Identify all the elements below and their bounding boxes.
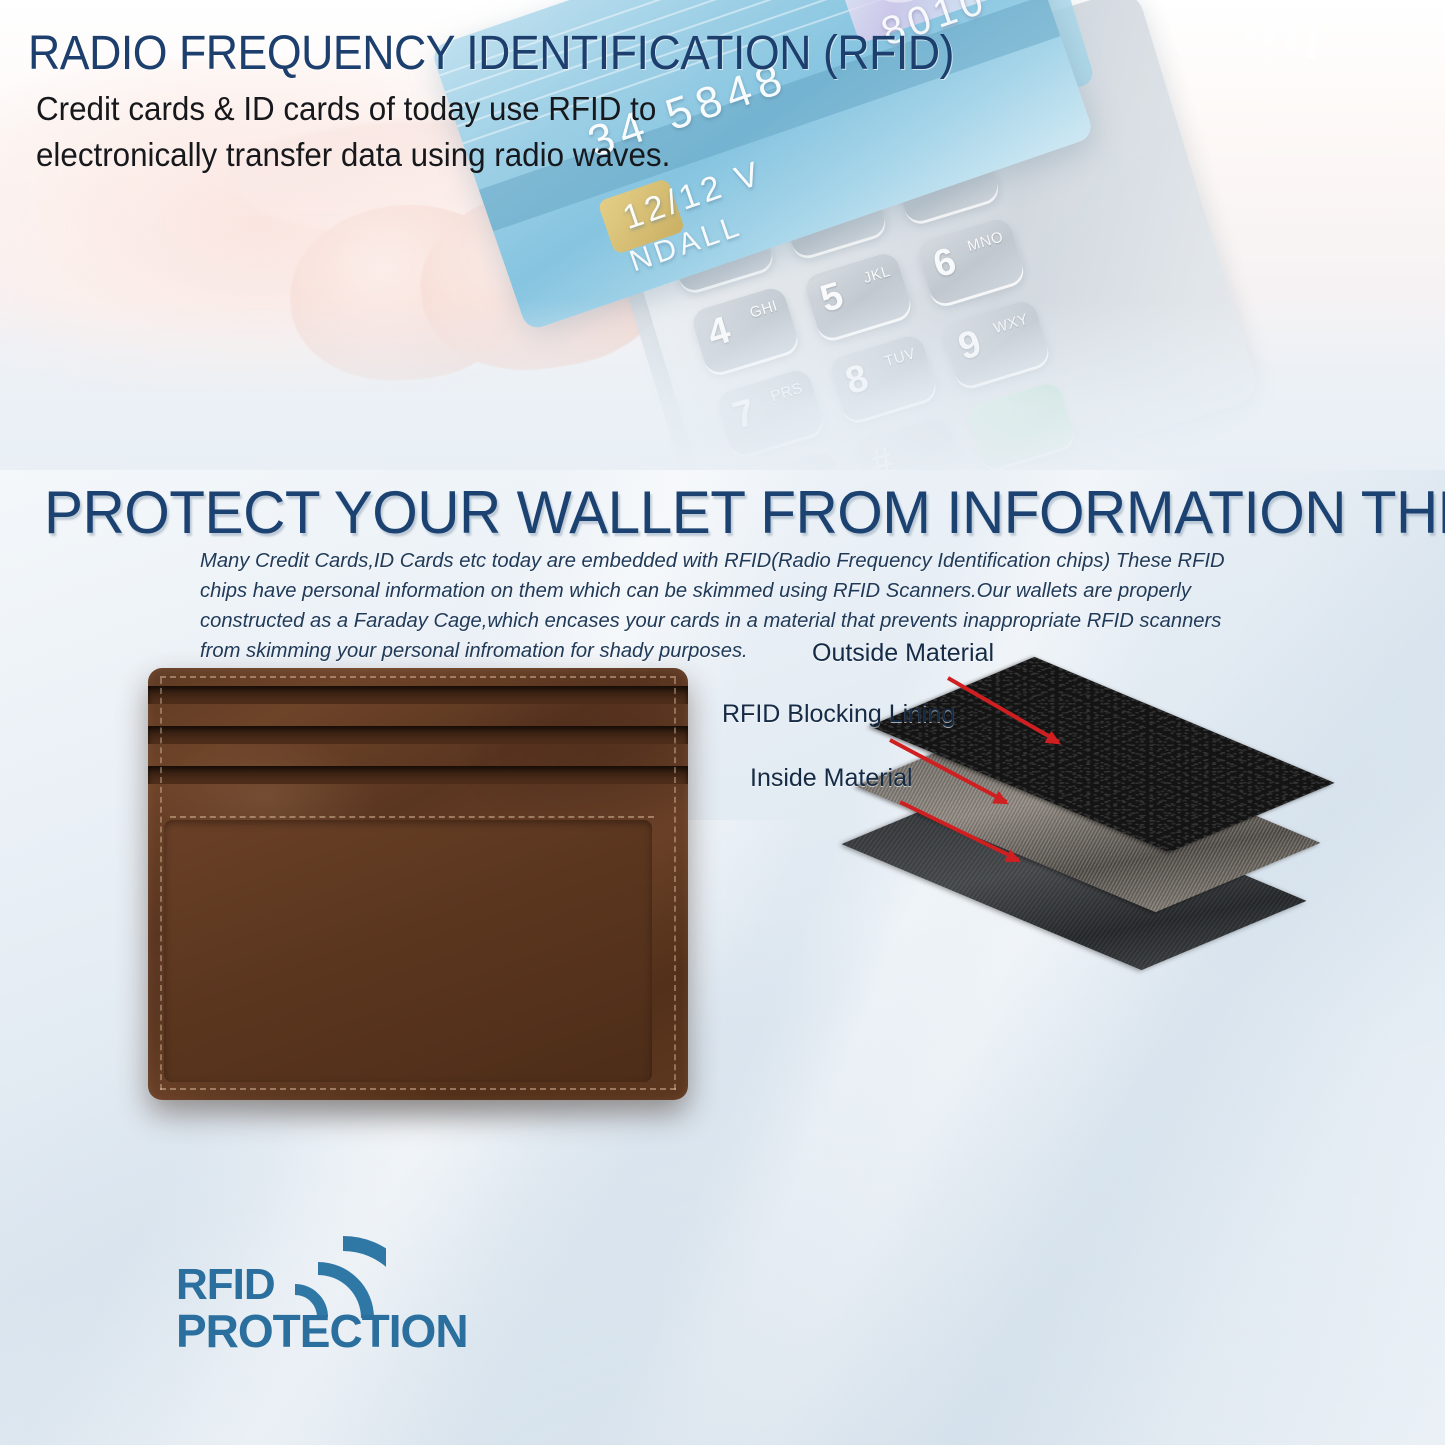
wallet-photo: pantaloons greencard PAYBACK ooo RP- San…	[148, 668, 688, 1118]
logo-line-1: RFID	[176, 1260, 275, 1310]
wallet-card-slot	[148, 686, 688, 704]
wallet-stitching	[170, 816, 654, 818]
logo-line-2: PROTECTION	[176, 1304, 468, 1358]
wallet-stitching	[674, 678, 676, 1090]
top-heading: RADIO FREQUENCY IDENTIFICATION (RFID)	[28, 26, 954, 81]
top-subtitle-line-1: Credit cards & ID cards of today use RFI…	[36, 86, 670, 132]
rfid-protection-logo: RFID PROTECTION	[176, 1226, 476, 1366]
main-heading: PROTECT YOUR WALLET FROM INFORMATION THE…	[44, 478, 1445, 547]
label-inside-material: Inside Material	[750, 764, 913, 793]
top-subtitle: Credit cards & ID cards of today use RFI…	[36, 86, 670, 178]
rfid-wallet-infographic: 1 QZ 2 ABC 3 DEF	[0, 0, 1445, 1445]
label-outside-material: Outside Material	[812, 639, 994, 668]
leather-wallet-body	[148, 668, 688, 1100]
key-letters: MNO	[966, 230, 1005, 254]
wallet-card-slot	[148, 766, 688, 784]
top-subtitle-line-2: electronically transfer data using radio…	[36, 132, 670, 178]
photo-band-fade	[0, 300, 1445, 470]
wallet-stitching	[160, 1088, 676, 1090]
wallet-card-slot	[148, 726, 688, 744]
keypad-key-6: 6 MNO	[915, 216, 1026, 307]
wallet-stitching	[160, 676, 676, 678]
wallet-front-pocket	[164, 820, 652, 1082]
wallet-stitching	[160, 678, 162, 1090]
key-digit: 6	[929, 242, 960, 285]
material-layers-diagram	[880, 640, 1300, 940]
label-rfid-blocking-lining: RFID Blocking Lining	[722, 700, 955, 729]
key-letters: JKL	[862, 265, 892, 286]
